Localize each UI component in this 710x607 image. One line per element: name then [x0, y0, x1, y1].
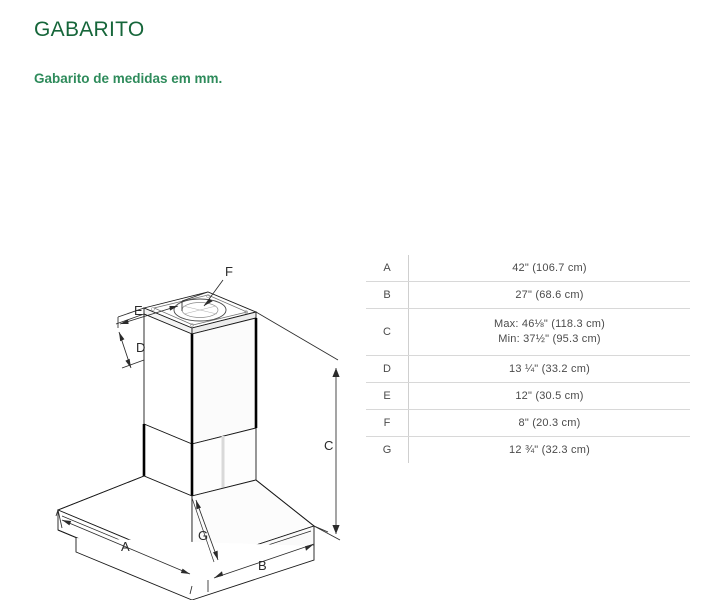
dimension-value-line: 42" (106.7 cm) — [409, 261, 690, 276]
table-row: D 13 ¼" (33.2 cm) — [366, 356, 690, 383]
dimension-value-line: 8" (20.3 cm) — [409, 416, 690, 431]
page-subtitle: Gabarito de medidas em mm. — [34, 44, 674, 89]
label-b: B — [258, 558, 267, 573]
dimension-value-line: 27" (68.6 cm) — [409, 288, 690, 303]
dimension-value: 42" (106.7 cm) — [409, 255, 690, 282]
dimension-value: 13 ¼" (33.2 cm) — [409, 356, 690, 383]
page-title: GABARITO — [34, 16, 674, 44]
dimension-value: 12" (30.5 cm) — [409, 383, 690, 410]
table-row: G 12 ¾" (32.3 cm) — [366, 437, 690, 464]
dimension-letter: A — [366, 255, 408, 282]
table-row: B 27" (68.6 cm) — [366, 282, 690, 309]
dimension-value-line: 12 ¾" (32.3 cm) — [409, 443, 690, 458]
label-a: A — [121, 539, 130, 554]
dimension-letter: C — [366, 309, 408, 356]
dimension-value-line: 12" (30.5 cm) — [409, 389, 690, 404]
dimension-value: 8" (20.3 cm) — [409, 410, 690, 437]
table-row: A 42" (106.7 cm) — [366, 255, 690, 282]
table-row: F 8" (20.3 cm) — [366, 410, 690, 437]
dimension-value-line-min: Min: 37½" (95.3 cm) — [409, 332, 690, 347]
upper-chimney — [144, 314, 256, 444]
column-divider-tail — [408, 448, 409, 462]
dimension-table: A 42" (106.7 cm) B 27" (68.6 cm) C Max — [366, 255, 690, 463]
table-row: E 12" (30.5 cm) — [366, 383, 690, 410]
dimension-letter: G — [366, 437, 408, 464]
hood-technical-drawing: E D F C A B G — [18, 248, 370, 600]
table-row: C Max: 46⅛" (118.3 cm) Min: 37½" (95.3 c… — [366, 309, 690, 356]
label-f: F — [225, 264, 233, 279]
label-c: C — [324, 438, 333, 453]
header-block: GABARITO Gabarito de medidas em mm. — [34, 16, 674, 89]
dimension-value: 27" (68.6 cm) — [409, 282, 690, 309]
dimension-value-line: 13 ¼" (33.2 cm) — [409, 362, 690, 377]
dimension-letter: F — [366, 410, 408, 437]
dimension-letter: B — [366, 282, 408, 309]
dimension-value: 12 ¾" (32.3 cm) — [409, 437, 690, 464]
label-g: G — [198, 528, 208, 543]
range-hood-isometric-drawing: E D F C A B G — [18, 248, 370, 600]
hood-base — [58, 474, 314, 600]
dimension-value-line-max: Max: 46⅛" (118.3 cm) — [409, 317, 690, 332]
label-e: E — [134, 303, 143, 318]
dimension-letter: E — [366, 383, 408, 410]
label-d: D — [136, 340, 145, 355]
dimension-table-body: A 42" (106.7 cm) B 27" (68.6 cm) C Max — [366, 255, 690, 463]
dimension-letter: D — [366, 356, 408, 383]
dimension-value: Max: 46⅛" (118.3 cm) Min: 37½" (95.3 cm) — [409, 309, 690, 356]
